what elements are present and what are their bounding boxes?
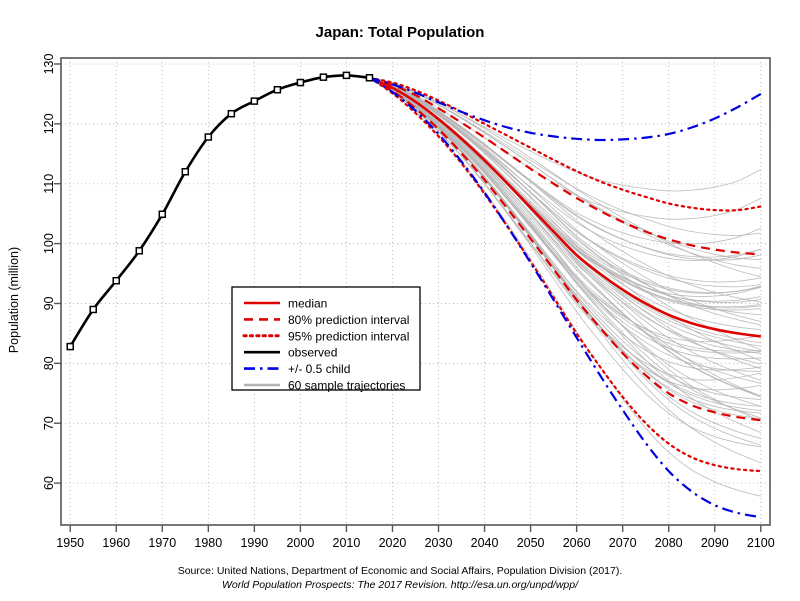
observed-marker xyxy=(205,134,211,140)
legend-label[interactable]: observed xyxy=(288,346,337,360)
legend-label[interactable]: 60 sample trajectories xyxy=(288,379,405,393)
legend-label[interactable]: median xyxy=(288,297,327,311)
y-tick-label: 70 xyxy=(42,416,56,430)
x-tick-label: 2040 xyxy=(471,536,499,550)
caption-source: Source: United Nations, Department of Ec… xyxy=(178,565,623,577)
chart-legend[interactable]: median80% prediction interval95% predict… xyxy=(232,287,420,393)
x-tick-label: 2030 xyxy=(425,536,453,550)
x-tick-label: 1990 xyxy=(240,536,268,550)
caption-reference: World Population Prospects: The 2017 Rev… xyxy=(222,579,579,591)
x-tick-label: 2100 xyxy=(747,536,775,550)
observed-marker xyxy=(320,74,326,80)
x-tick-label: 1980 xyxy=(194,536,222,550)
y-tick-label: 120 xyxy=(42,113,56,134)
x-tick-label: 2060 xyxy=(563,536,591,550)
x-tick-label: 1950 xyxy=(56,536,84,550)
x-tick-label: 2020 xyxy=(379,536,407,550)
legend-label[interactable]: 95% prediction interval xyxy=(288,329,409,343)
legend-label[interactable]: 80% prediction interval xyxy=(288,313,409,327)
x-tick-label: 2090 xyxy=(701,536,729,550)
y-tick-label: 90 xyxy=(42,296,56,310)
y-axis-label: Population (million) xyxy=(7,247,21,353)
x-tick-label: 2070 xyxy=(609,536,637,550)
y-tick-label: 100 xyxy=(42,233,56,254)
population-projection-figure: Japan: Total Population Population (mill… xyxy=(0,0,800,601)
y-tick-label: 80 xyxy=(42,356,56,370)
legend-label[interactable]: +/- 0.5 child xyxy=(288,362,350,376)
x-tick-label: 2080 xyxy=(655,536,683,550)
observed-marker xyxy=(228,111,234,117)
observed-marker xyxy=(274,87,280,93)
observed-marker xyxy=(90,306,96,312)
y-tick-label: 60 xyxy=(42,476,56,490)
y-tick-label: 130 xyxy=(42,54,56,75)
observed-marker xyxy=(67,344,73,350)
observed-marker xyxy=(366,75,372,81)
x-tick-label: 1960 xyxy=(102,536,130,550)
chart-canvas: Japan: Total Population Population (mill… xyxy=(0,0,800,601)
observed-marker xyxy=(343,72,349,78)
x-tick-label: 2050 xyxy=(517,536,545,550)
observed-marker xyxy=(159,211,165,217)
x-tick-label: 1970 xyxy=(148,536,176,550)
y-tick-label: 110 xyxy=(42,174,56,194)
observed-marker xyxy=(136,248,142,254)
x-tick-label: 2000 xyxy=(286,536,314,550)
observed-marker xyxy=(182,169,188,175)
observed-marker xyxy=(113,278,119,284)
x-tick-label: 2010 xyxy=(333,536,361,550)
chart-title: Japan: Total Population xyxy=(316,24,485,41)
observed-marker xyxy=(251,98,257,104)
observed-marker xyxy=(297,80,303,86)
